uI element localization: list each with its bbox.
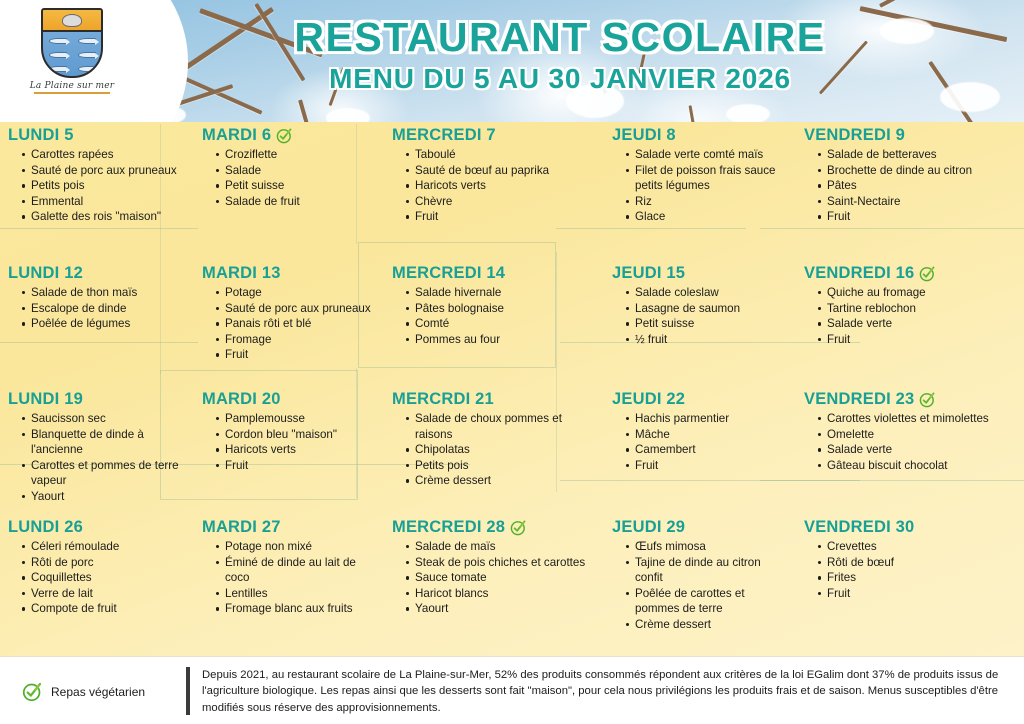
dish-item: Saucisson sec bbox=[22, 411, 188, 427]
dish-item: Galette des rois "maison" bbox=[22, 209, 188, 225]
dish-item: Sauté de bœuf au paprika bbox=[406, 163, 598, 179]
dish-item: Brochette de dinde au citron bbox=[818, 163, 1018, 179]
dish-list: Salade de maïs Steak de pois chiches et … bbox=[392, 539, 598, 617]
dish-item: Salade verte bbox=[818, 442, 1018, 458]
dish-item: Salade de choux pommes et raisons bbox=[406, 411, 598, 442]
day-title: MARDI 13 bbox=[202, 264, 281, 283]
dish-item: Gâteau biscuit chocolat bbox=[818, 458, 1018, 474]
dish-item: Céleri rémoulade bbox=[22, 539, 188, 555]
footer-note: Depuis 2021, au restaurant scolaire de L… bbox=[202, 667, 1008, 716]
dish-item: Salade de betteraves bbox=[818, 147, 1018, 163]
day-header: VENDREDI 9 bbox=[804, 126, 1018, 145]
dish-item: Chipolatas bbox=[406, 442, 598, 458]
dish-item: Pâtes bolognaise bbox=[406, 301, 598, 317]
dish-item: Blanquette de dinde à l'ancienne bbox=[22, 427, 188, 458]
dish-item: Fromage bbox=[216, 332, 378, 348]
day-header: LUNDI 26 bbox=[8, 518, 188, 537]
dish-list: Carottes rapées Sauté de porc aux prunea… bbox=[8, 147, 188, 225]
day-title: MERCRDI 21 bbox=[392, 390, 494, 409]
dish-item: Haricots verts bbox=[406, 178, 598, 194]
dish-list: Quiche au fromage Tartine reblochon Sala… bbox=[804, 285, 1018, 347]
week-row: LUNDI 5 Carottes rapées Sauté de porc au… bbox=[0, 126, 1024, 262]
day-header: VENDREDI 30 bbox=[804, 518, 1018, 537]
dish-item: Hachis parmentier bbox=[626, 411, 790, 427]
dish-item: Fruit bbox=[216, 347, 378, 363]
fish-row bbox=[43, 38, 101, 44]
day-cell: MARDI 13 Potage Sauté de porc aux prunea… bbox=[194, 264, 384, 388]
dish-item: Taboulé bbox=[406, 147, 598, 163]
day-title: LUNDI 19 bbox=[8, 390, 83, 409]
dish-item: Potage non mixé bbox=[216, 539, 378, 555]
day-cell: MERCREDI 14 Salade hivernale Pâtes bolog… bbox=[384, 264, 604, 388]
dish-item: Salade de thon maïs bbox=[22, 285, 188, 301]
day-cell: LUNDI 26 Céleri rémoulade Rôti de porc C… bbox=[0, 518, 194, 654]
day-cell: JEUDI 15 Salade coleslaw Lasagne de saum… bbox=[604, 264, 796, 388]
menu-poster: La Plaine sur mer RESTAURANT SCOLAIRE ME… bbox=[0, 0, 1024, 724]
dish-list: Potage Sauté de porc aux pruneaux Panais… bbox=[202, 285, 378, 363]
day-header: LUNDI 5 bbox=[8, 126, 188, 145]
day-header: JEUDI 29 bbox=[612, 518, 790, 537]
dish-list: Saucisson sec Blanquette de dinde à l'an… bbox=[8, 411, 188, 505]
day-cell: MERCREDI 28 Salade de maïs Steak de pois… bbox=[384, 518, 604, 654]
coat-of-arms-icon bbox=[41, 8, 103, 78]
day-title: LUNDI 12 bbox=[8, 264, 83, 283]
dish-list: Salade de thon maïs Escalope de dinde Po… bbox=[8, 285, 188, 332]
dish-item: Petit suisse bbox=[216, 178, 378, 194]
day-header: JEUDI 15 bbox=[612, 264, 790, 283]
dish-item: Poêlée de carottes et pommes de terre bbox=[626, 586, 790, 617]
day-header: MARDI 13 bbox=[202, 264, 378, 283]
dish-item: Lentilles bbox=[216, 586, 378, 602]
day-header: JEUDI 8 bbox=[612, 126, 790, 145]
day-title: MERCREDI 14 bbox=[392, 264, 505, 283]
day-title: MARDI 6 bbox=[202, 126, 271, 145]
dish-item: Carottes rapées bbox=[22, 147, 188, 163]
day-cell: VENDREDI 23 Carottes violettes et mimole… bbox=[796, 390, 1024, 516]
day-title: VENDREDI 16 bbox=[804, 264, 914, 283]
day-title: MARDI 20 bbox=[202, 390, 281, 409]
dish-list: Œufs mimosa Tajine de dinde au citron co… bbox=[612, 539, 790, 633]
day-header: MERCREDI 14 bbox=[392, 264, 598, 283]
dish-item: Salade bbox=[216, 163, 378, 179]
dish-item: Carottes violettes et mimolettes bbox=[818, 411, 1018, 427]
day-cell: LUNDI 19 Saucisson sec Blanquette de din… bbox=[0, 390, 194, 516]
dish-list: Crevettes Rôti de bœuf Frites Fruit bbox=[804, 539, 1018, 601]
vegetarian-legend: Repas végétarien bbox=[22, 667, 186, 702]
dish-item: Quiche au fromage bbox=[818, 285, 1018, 301]
dish-item: Saint-Nectaire bbox=[818, 194, 1018, 210]
day-header: MERCRDI 21 bbox=[392, 390, 598, 409]
day-title: JEUDI 29 bbox=[612, 518, 685, 537]
fish-icon bbox=[49, 66, 67, 72]
day-title: LUNDI 5 bbox=[8, 126, 74, 145]
day-cell: MARDI 27 Potage non mixé Éminé de dinde … bbox=[194, 518, 384, 654]
day-cell: MERCRDI 21 Salade de choux pommes et rai… bbox=[384, 390, 604, 516]
day-cell: VENDREDI 16 Quiche au fromage Tartine re… bbox=[796, 264, 1024, 388]
dish-item: Pâtes bbox=[818, 178, 1018, 194]
dish-list: Hachis parmentier Mâche Camembert Fruit bbox=[612, 411, 790, 473]
dish-item: Sauté de porc aux pruneaux bbox=[22, 163, 188, 179]
day-cell: VENDREDI 30 Crevettes Rôti de bœuf Frite… bbox=[796, 518, 1024, 654]
day-title: VENDREDI 30 bbox=[804, 518, 914, 537]
dish-item: Rôti de bœuf bbox=[818, 555, 1018, 571]
logo-underline bbox=[34, 92, 110, 94]
day-title: JEUDI 8 bbox=[612, 126, 676, 145]
dish-item: Panais rôti et blé bbox=[216, 316, 378, 332]
vegetarian-check-icon bbox=[919, 391, 936, 408]
dish-item: Tartine reblochon bbox=[818, 301, 1018, 317]
shell-icon bbox=[62, 14, 82, 27]
dish-item: Petits pois bbox=[406, 458, 598, 474]
dish-item: Fruit bbox=[818, 586, 1018, 602]
day-title: MARDI 27 bbox=[202, 518, 281, 537]
dish-list: Céleri rémoulade Rôti de porc Coquillett… bbox=[8, 539, 188, 617]
dish-item: Frites bbox=[818, 570, 1018, 586]
dish-item: Potage bbox=[216, 285, 378, 301]
fish-icon bbox=[49, 38, 67, 44]
day-title: JEUDI 22 bbox=[612, 390, 685, 409]
dish-item: Fruit bbox=[406, 209, 598, 225]
dish-item: Emmental bbox=[22, 194, 188, 210]
fish-row bbox=[43, 52, 101, 58]
dish-item: Camembert bbox=[626, 442, 790, 458]
dish-item: Yaourt bbox=[406, 601, 598, 617]
day-header: MARDI 20 bbox=[202, 390, 378, 409]
dish-item: Petit suisse bbox=[626, 316, 790, 332]
vegetarian-check-icon bbox=[919, 265, 936, 282]
dish-item: Tajine de dinde au citron confit bbox=[626, 555, 790, 586]
poster-footer: Repas végétarien Depuis 2021, au restaur… bbox=[0, 656, 1024, 724]
dish-item: Chèvre bbox=[406, 194, 598, 210]
dish-item: Mâche bbox=[626, 427, 790, 443]
day-cell: JEUDI 8 Salade verte comté maïs Filet de… bbox=[604, 126, 796, 262]
fish-row bbox=[43, 66, 101, 72]
menu-grid: LUNDI 5 Carottes rapées Sauté de porc au… bbox=[0, 124, 1024, 654]
dish-item: Salade de maïs bbox=[406, 539, 598, 555]
poster-header: La Plaine sur mer RESTAURANT SCOLAIRE ME… bbox=[0, 0, 1024, 122]
dish-item: Sauce tomate bbox=[406, 570, 598, 586]
dish-list: Taboulé Sauté de bœuf au paprika Haricot… bbox=[392, 147, 598, 225]
dish-item: Salade de fruit bbox=[216, 194, 378, 210]
day-header: MARDI 27 bbox=[202, 518, 378, 537]
dish-item: Haricot blancs bbox=[406, 586, 598, 602]
snow-icon bbox=[326, 108, 370, 122]
day-cell: JEUDI 22 Hachis parmentier Mâche Camembe… bbox=[604, 390, 796, 516]
day-header: VENDREDI 16 bbox=[804, 264, 1018, 283]
dish-item: Cordon bleu "maison" bbox=[216, 427, 378, 443]
vegetarian-check-icon bbox=[22, 681, 43, 702]
footer-divider bbox=[186, 667, 190, 715]
day-cell: LUNDI 5 Carottes rapées Sauté de porc au… bbox=[0, 126, 194, 262]
fish-icon bbox=[78, 52, 96, 58]
crest-chief-band bbox=[43, 10, 101, 32]
dish-item: Lasagne de saumon bbox=[626, 301, 790, 317]
dish-item: Pamplemousse bbox=[216, 411, 378, 427]
dish-item: Salade hivernale bbox=[406, 285, 598, 301]
fish-icon bbox=[78, 66, 96, 72]
week-row: LUNDI 12 Salade de thon maïs Escalope de… bbox=[0, 264, 1024, 388]
day-cell: MARDI 20 Pamplemousse Cordon bleu "maiso… bbox=[194, 390, 384, 516]
dish-item: Carottes et pommes de terre vapeur bbox=[22, 458, 188, 489]
dish-item: Fromage blanc aux fruits bbox=[216, 601, 378, 617]
day-cell: JEUDI 29 Œufs mimosa Tajine de dinde au … bbox=[604, 518, 796, 654]
week-row: LUNDI 19 Saucisson sec Blanquette de din… bbox=[0, 390, 1024, 516]
dish-item: Omelette bbox=[818, 427, 1018, 443]
dish-list: Pamplemousse Cordon bleu "maison" Harico… bbox=[202, 411, 378, 473]
dish-item: Fruit bbox=[216, 458, 378, 474]
dish-item: Filet de poisson frais sauce petits légu… bbox=[626, 163, 790, 194]
snow-icon bbox=[726, 104, 770, 122]
dish-list: Salade verte comté maïs Filet de poisson… bbox=[612, 147, 790, 225]
dish-item: Crème dessert bbox=[406, 473, 598, 489]
dish-list: Croziflette Salade Petit suisse Salade d… bbox=[202, 147, 378, 209]
dish-list: Salade coleslaw Lasagne de saumon Petit … bbox=[612, 285, 790, 347]
legend-label: Repas végétarien bbox=[51, 685, 145, 699]
dish-item: Coquillettes bbox=[22, 570, 188, 586]
day-cell: LUNDI 12 Salade de thon maïs Escalope de… bbox=[0, 264, 194, 388]
dish-item: Petits pois bbox=[22, 178, 188, 194]
day-header: MARDI 6 bbox=[202, 126, 378, 145]
dish-item: Poêlée de légumes bbox=[22, 316, 188, 332]
dish-list: Salade de choux pommes et raisons Chipol… bbox=[392, 411, 598, 489]
dish-item: Fruit bbox=[818, 332, 1018, 348]
vegetarian-check-icon bbox=[510, 519, 527, 536]
day-title: VENDREDI 23 bbox=[804, 390, 914, 409]
day-cell: MERCREDI 7 Taboulé Sauté de bœuf au papr… bbox=[384, 126, 604, 262]
dish-item: Croziflette bbox=[216, 147, 378, 163]
day-title: JEUDI 15 bbox=[612, 264, 685, 283]
dish-item: Œufs mimosa bbox=[626, 539, 790, 555]
dish-item: ½ fruit bbox=[626, 332, 790, 348]
day-title: MERCREDI 28 bbox=[392, 518, 505, 537]
day-title: LUNDI 26 bbox=[8, 518, 83, 537]
poster-subtitle: MENU DU 5 AU 30 JANVIER 2026 bbox=[96, 63, 1024, 95]
vegetarian-check-icon bbox=[276, 127, 293, 144]
day-cell: VENDREDI 9 Salade de betteraves Brochett… bbox=[796, 126, 1024, 262]
week-row: LUNDI 26 Céleri rémoulade Rôti de porc C… bbox=[0, 518, 1024, 654]
dish-item: Salade verte comté maïs bbox=[626, 147, 790, 163]
dish-item: Escalope de dinde bbox=[22, 301, 188, 317]
dish-item: Pommes au four bbox=[406, 332, 598, 348]
dish-item: Crevettes bbox=[818, 539, 1018, 555]
dish-item: Fruit bbox=[818, 209, 1018, 225]
day-title: MERCREDI 7 bbox=[392, 126, 496, 145]
dish-item: Compote de fruit bbox=[22, 601, 188, 617]
dish-item: Fruit bbox=[626, 458, 790, 474]
dish-item: Salade verte bbox=[818, 316, 1018, 332]
dish-item: Verre de lait bbox=[22, 586, 188, 602]
dish-item: Comté bbox=[406, 316, 598, 332]
dish-list: Potage non mixé Éminé de dinde au lait d… bbox=[202, 539, 378, 617]
day-cell: MARDI 6 Croziflette Salade Petit suisse … bbox=[194, 126, 384, 262]
day-header: LUNDI 12 bbox=[8, 264, 188, 283]
dish-item: Haricots verts bbox=[216, 442, 378, 458]
dish-item: Riz bbox=[626, 194, 790, 210]
poster-title: RESTAURANT SCOLAIRE bbox=[96, 14, 1024, 61]
dish-item: Yaourt bbox=[22, 489, 188, 505]
dish-item: Sauté de porc aux pruneaux bbox=[216, 301, 378, 317]
day-header: LUNDI 19 bbox=[8, 390, 188, 409]
day-header: MERCREDI 7 bbox=[392, 126, 598, 145]
day-header: MERCREDI 28 bbox=[392, 518, 598, 537]
dish-list: Carottes violettes et mimolettes Omelett… bbox=[804, 411, 1018, 473]
town-logo: La Plaine sur mer bbox=[18, 8, 126, 94]
town-name: La Plaine sur mer bbox=[18, 81, 126, 91]
dish-list: Salade de betteraves Brochette de dinde … bbox=[804, 147, 1018, 225]
dish-item: Salade coleslaw bbox=[626, 285, 790, 301]
day-header: VENDREDI 23 bbox=[804, 390, 1018, 409]
fish-icon bbox=[49, 52, 67, 58]
day-header: JEUDI 22 bbox=[612, 390, 790, 409]
dish-item: Rôti de porc bbox=[22, 555, 188, 571]
dish-item: Éminé de dinde au lait de coco bbox=[216, 555, 378, 586]
dish-item: Steak de pois chiches et carottes bbox=[406, 555, 598, 571]
day-title: VENDREDI 9 bbox=[804, 126, 905, 145]
dish-list: Salade hivernale Pâtes bolognaise Comté … bbox=[392, 285, 598, 347]
dish-item: Glace bbox=[626, 209, 790, 225]
dish-item: Crème dessert bbox=[626, 617, 790, 633]
fish-icon bbox=[78, 38, 96, 44]
